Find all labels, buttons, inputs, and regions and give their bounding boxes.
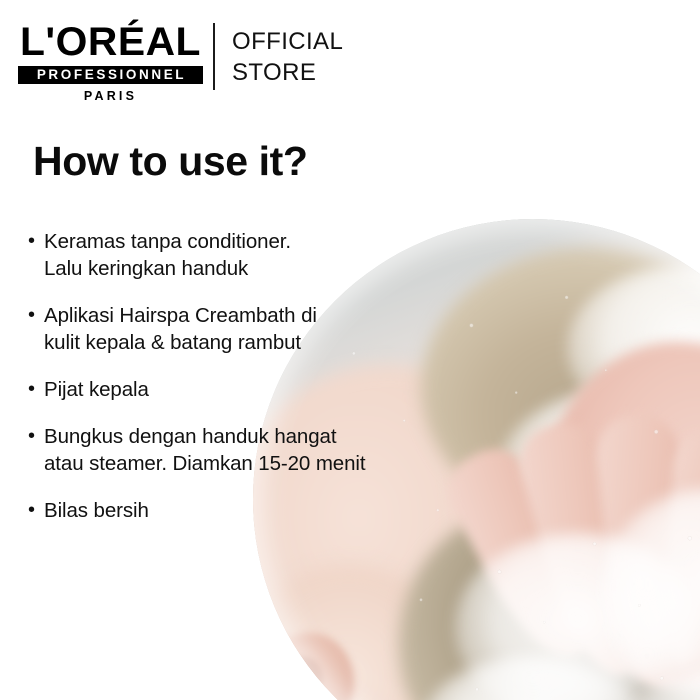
steps-list: • Keramas tanpa conditioner. Lalu kering… [28, 228, 458, 544]
step-text: Aplikasi Hairspa Creambath di kulit kepa… [44, 302, 458, 356]
bullet-icon: • [28, 497, 44, 524]
official-store-line-2: STORE [232, 57, 343, 88]
header-divider [213, 23, 215, 90]
list-item: • Aplikasi Hairspa Creambath di kulit ke… [28, 302, 458, 356]
step-text: Bungkus dengan handuk hangat atau steame… [44, 423, 458, 477]
brand-city-paris: PARIS [18, 90, 203, 103]
list-item: • Bilas bersih [28, 497, 458, 524]
bullet-icon: • [28, 423, 44, 450]
step-text: Pijat kepala [44, 376, 458, 403]
official-store-line-1: OFFICIAL [232, 26, 343, 57]
list-item: • Bungkus dengan handuk hangat atau stea… [28, 423, 458, 477]
list-item: • Pijat kepala [28, 376, 458, 403]
step-text: Keramas tanpa conditioner. Lalu keringka… [44, 228, 458, 282]
brand-name-loreal: L'ORÉAL [16, 22, 205, 62]
list-item: • Keramas tanpa conditioner. Lalu kering… [28, 228, 458, 282]
bullet-icon: • [28, 376, 44, 403]
header: L'ORÉAL PROFESSIONNEL PARIS OFFICIAL STO… [0, 0, 700, 110]
loreal-professionnel-logo: L'ORÉAL PROFESSIONNEL PARIS [18, 22, 203, 103]
page-title: How to use it? [33, 141, 308, 182]
step-text: Bilas bersih [44, 497, 458, 524]
bullet-icon: • [28, 228, 44, 255]
bullet-icon: • [28, 302, 44, 329]
promo-card: L'ORÉAL PROFESSIONNEL PARIS OFFICIAL STO… [0, 0, 700, 700]
official-store-label: OFFICIAL STORE [232, 26, 343, 88]
brand-line-professionnel: PROFESSIONNEL [18, 66, 203, 84]
